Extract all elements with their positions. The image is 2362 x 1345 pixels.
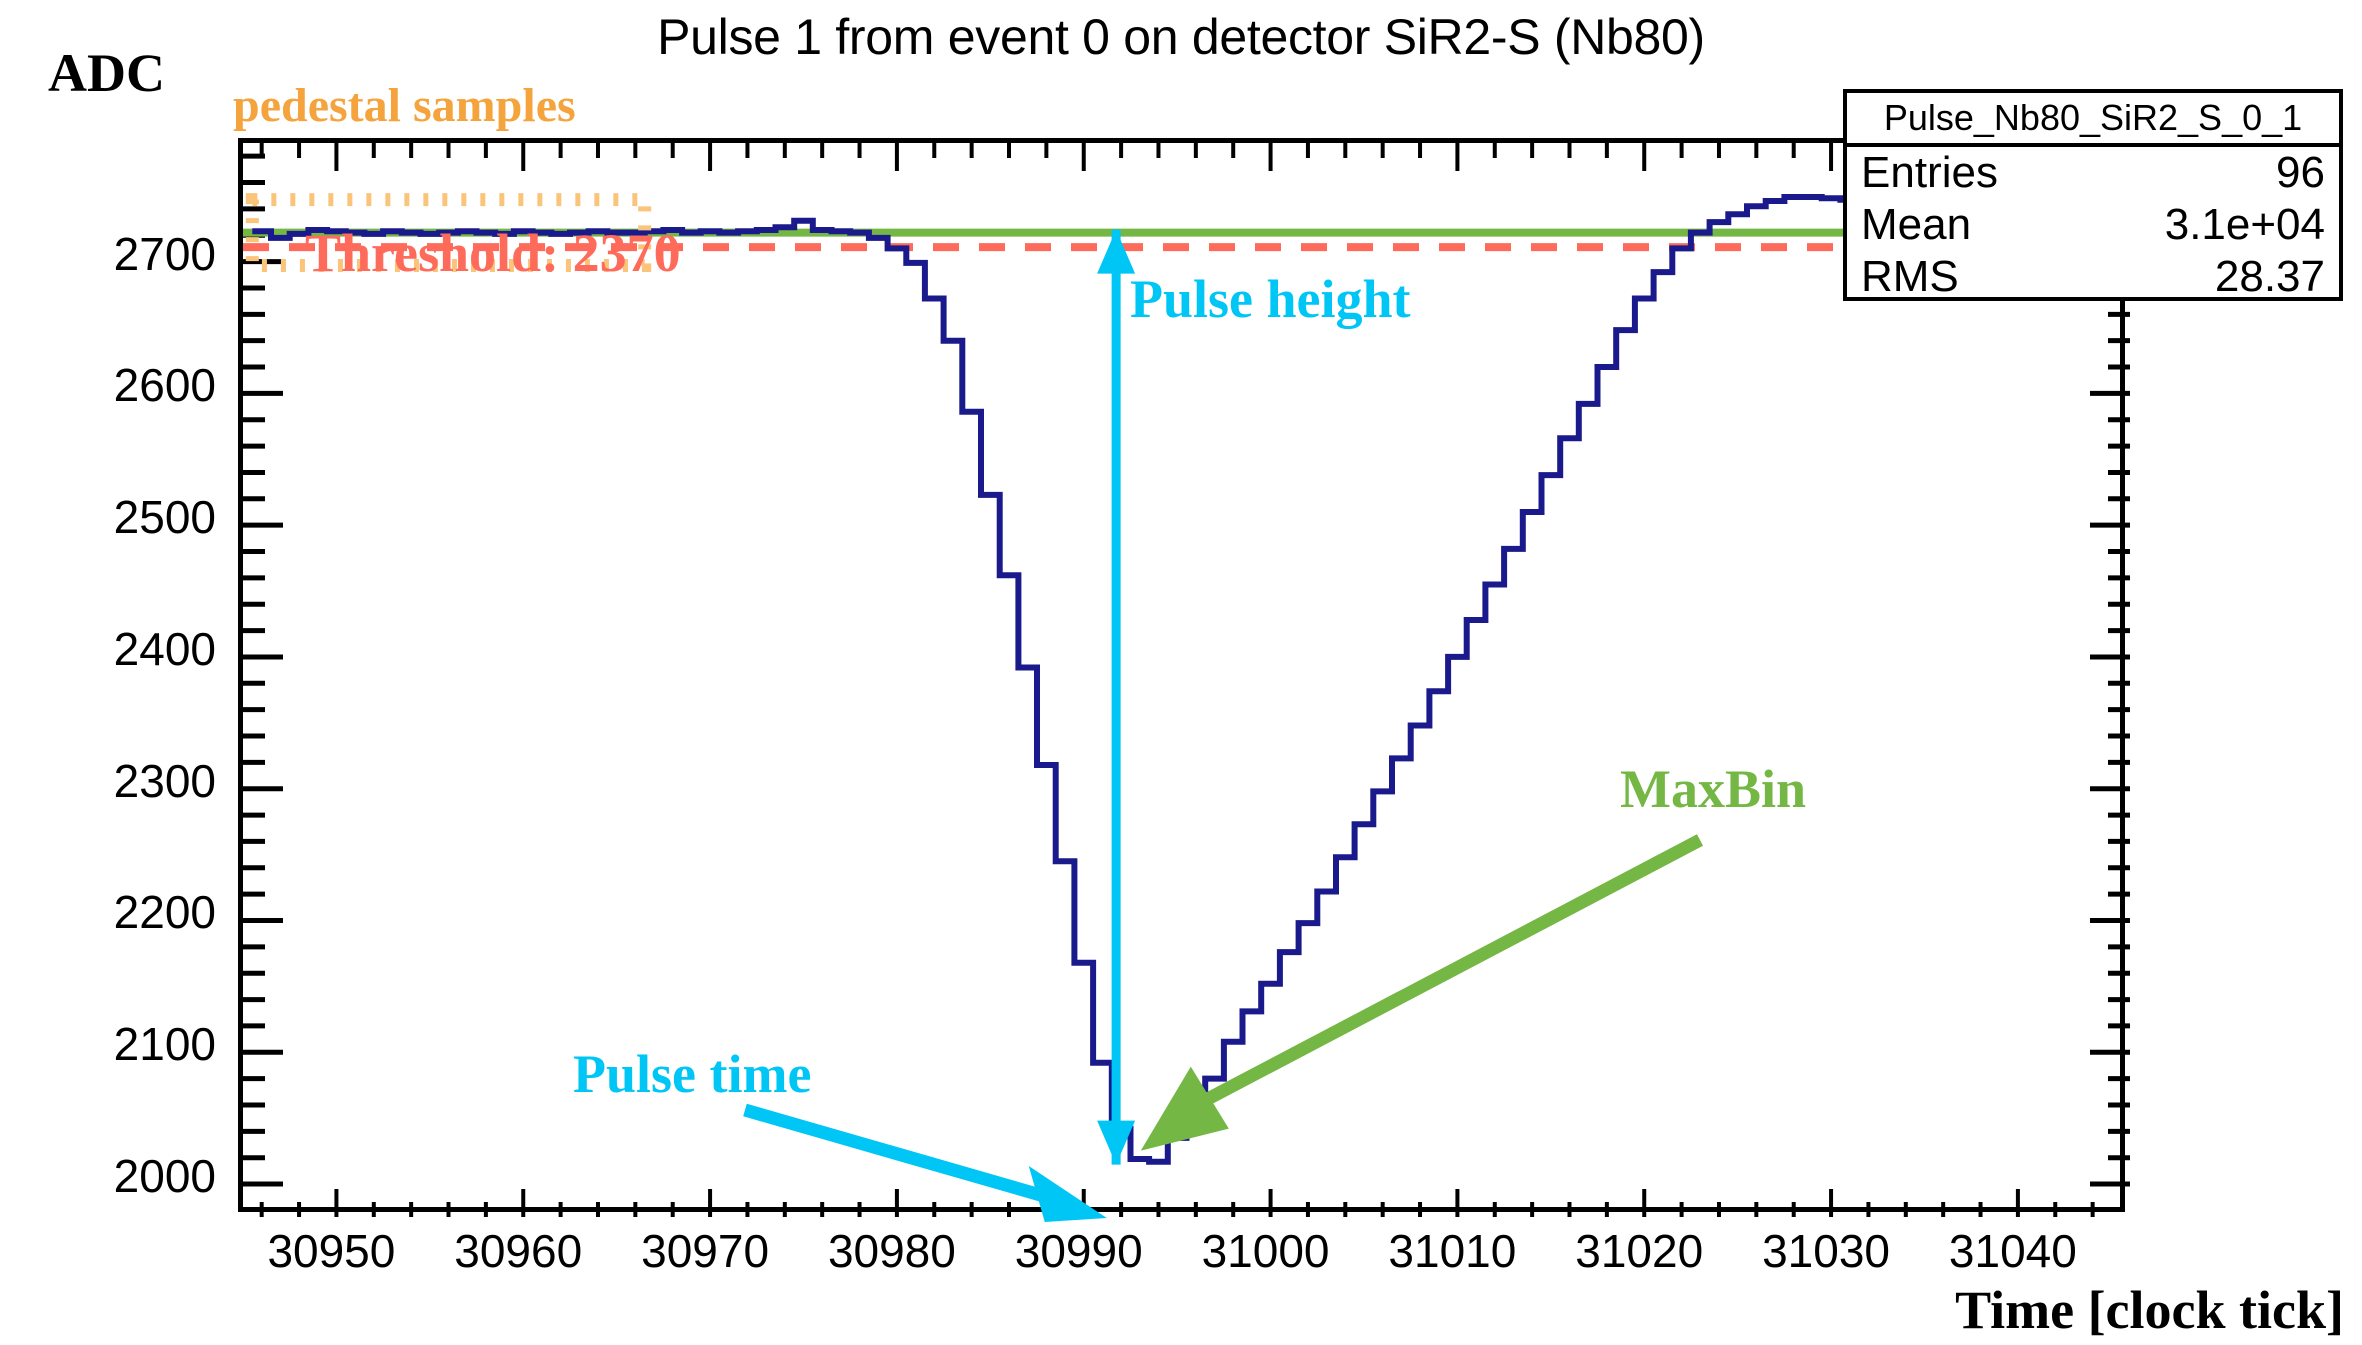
annotation-max-bin: MaxBin bbox=[1620, 758, 1806, 820]
stats-row-rms: RMS 28.37 bbox=[1847, 251, 2339, 303]
annotation-threshold: Threshold: 2370 bbox=[305, 222, 681, 284]
y-tick-label: 2300 bbox=[26, 754, 216, 808]
y-tick-label: 2400 bbox=[26, 622, 216, 676]
stats-label-mean: Mean bbox=[1861, 199, 1971, 251]
pulse-waveform bbox=[252, 197, 2046, 1162]
y-tick-label: 2100 bbox=[26, 1017, 216, 1071]
x-tick-label: 31040 bbox=[1888, 1224, 2138, 1278]
stats-box: Pulse_Nb80_SiR2_S_0_1 Entries 96 Mean 3.… bbox=[1843, 89, 2343, 301]
stats-value-entries: 96 bbox=[2276, 147, 2325, 199]
y-tick-label: 2600 bbox=[26, 358, 216, 412]
annotation-pulse-height: Pulse height bbox=[1130, 268, 1411, 330]
y-tick-label: 2500 bbox=[26, 490, 216, 544]
chart-title: Pulse 1 from event 0 on detector SiR2-S … bbox=[0, 8, 2362, 66]
clipped-content bbox=[243, 197, 2130, 1162]
stats-label-entries: Entries bbox=[1861, 147, 1998, 199]
stats-value-mean: 3.1e+04 bbox=[2165, 199, 2325, 251]
y-tick-label: 2700 bbox=[26, 227, 216, 281]
y-tick-label: 2200 bbox=[26, 885, 216, 939]
stats-value-rms: 28.37 bbox=[2215, 251, 2325, 303]
stats-box-title: Pulse_Nb80_SiR2_S_0_1 bbox=[1847, 93, 2339, 147]
stats-row-entries: Entries 96 bbox=[1847, 147, 2339, 199]
stats-row-mean: Mean 3.1e+04 bbox=[1847, 199, 2339, 251]
y-tick-label: 2000 bbox=[26, 1149, 216, 1203]
y-axis-title: ADC bbox=[48, 42, 165, 104]
stats-label-rms: RMS bbox=[1861, 251, 1959, 303]
chart-canvas: Pulse 1 from event 0 on detector SiR2-S … bbox=[0, 0, 2362, 1345]
annotation-pedestal-samples: pedestal samples bbox=[233, 78, 576, 133]
x-axis-title: Time [clock tick] bbox=[1955, 1279, 2344, 1341]
annotation-pulse-time: Pulse time bbox=[573, 1043, 811, 1105]
